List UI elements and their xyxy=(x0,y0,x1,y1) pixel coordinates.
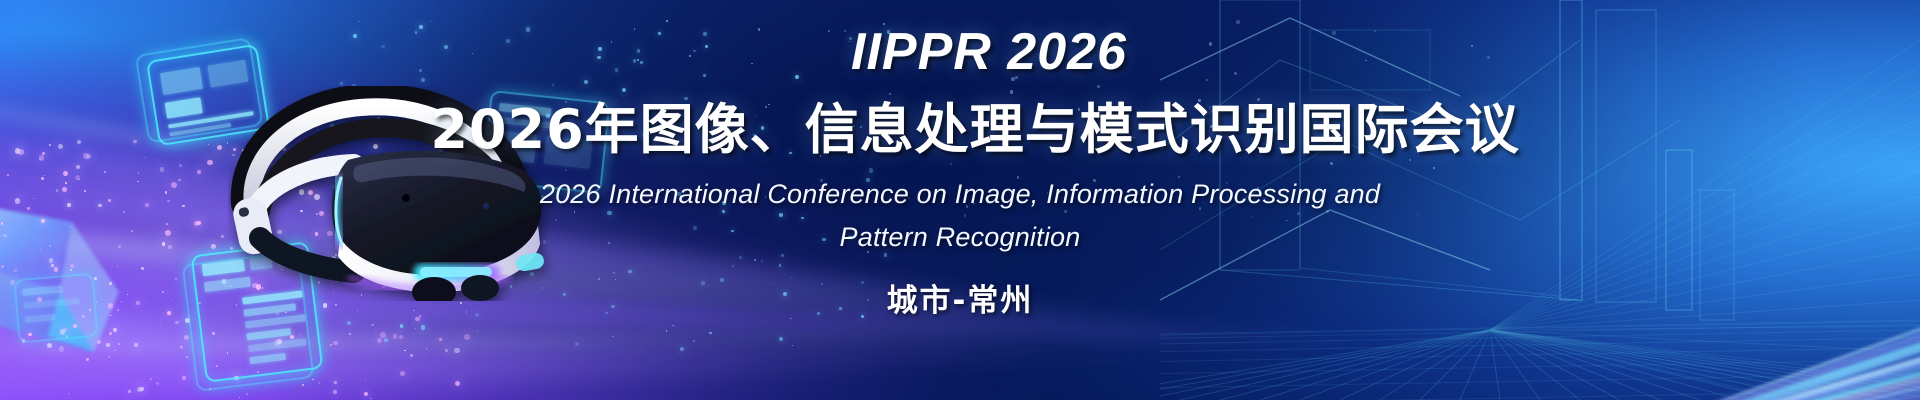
conference-banner: IIPPR 2026 2026年图像、信息处理与模式识别国际会议 2026 In… xyxy=(0,0,1920,400)
conference-title-english: 2026 International Conference on Image, … xyxy=(460,173,1460,258)
conference-title-english-line2: Pattern Recognition xyxy=(840,222,1081,252)
conference-city-label: 城市-常州 xyxy=(887,275,1034,320)
banner-text-block: IIPPR 2026 2026年图像、信息处理与模式识别国际会议 2026 In… xyxy=(0,0,1920,400)
conference-title-english-line1: 2026 International Conference on Image, … xyxy=(540,179,1380,209)
conference-acronym: IIPPR 2026 xyxy=(851,26,1127,78)
conference-title-chinese: 2026年图像、信息处理与模式识别国际会议 xyxy=(430,100,1519,159)
